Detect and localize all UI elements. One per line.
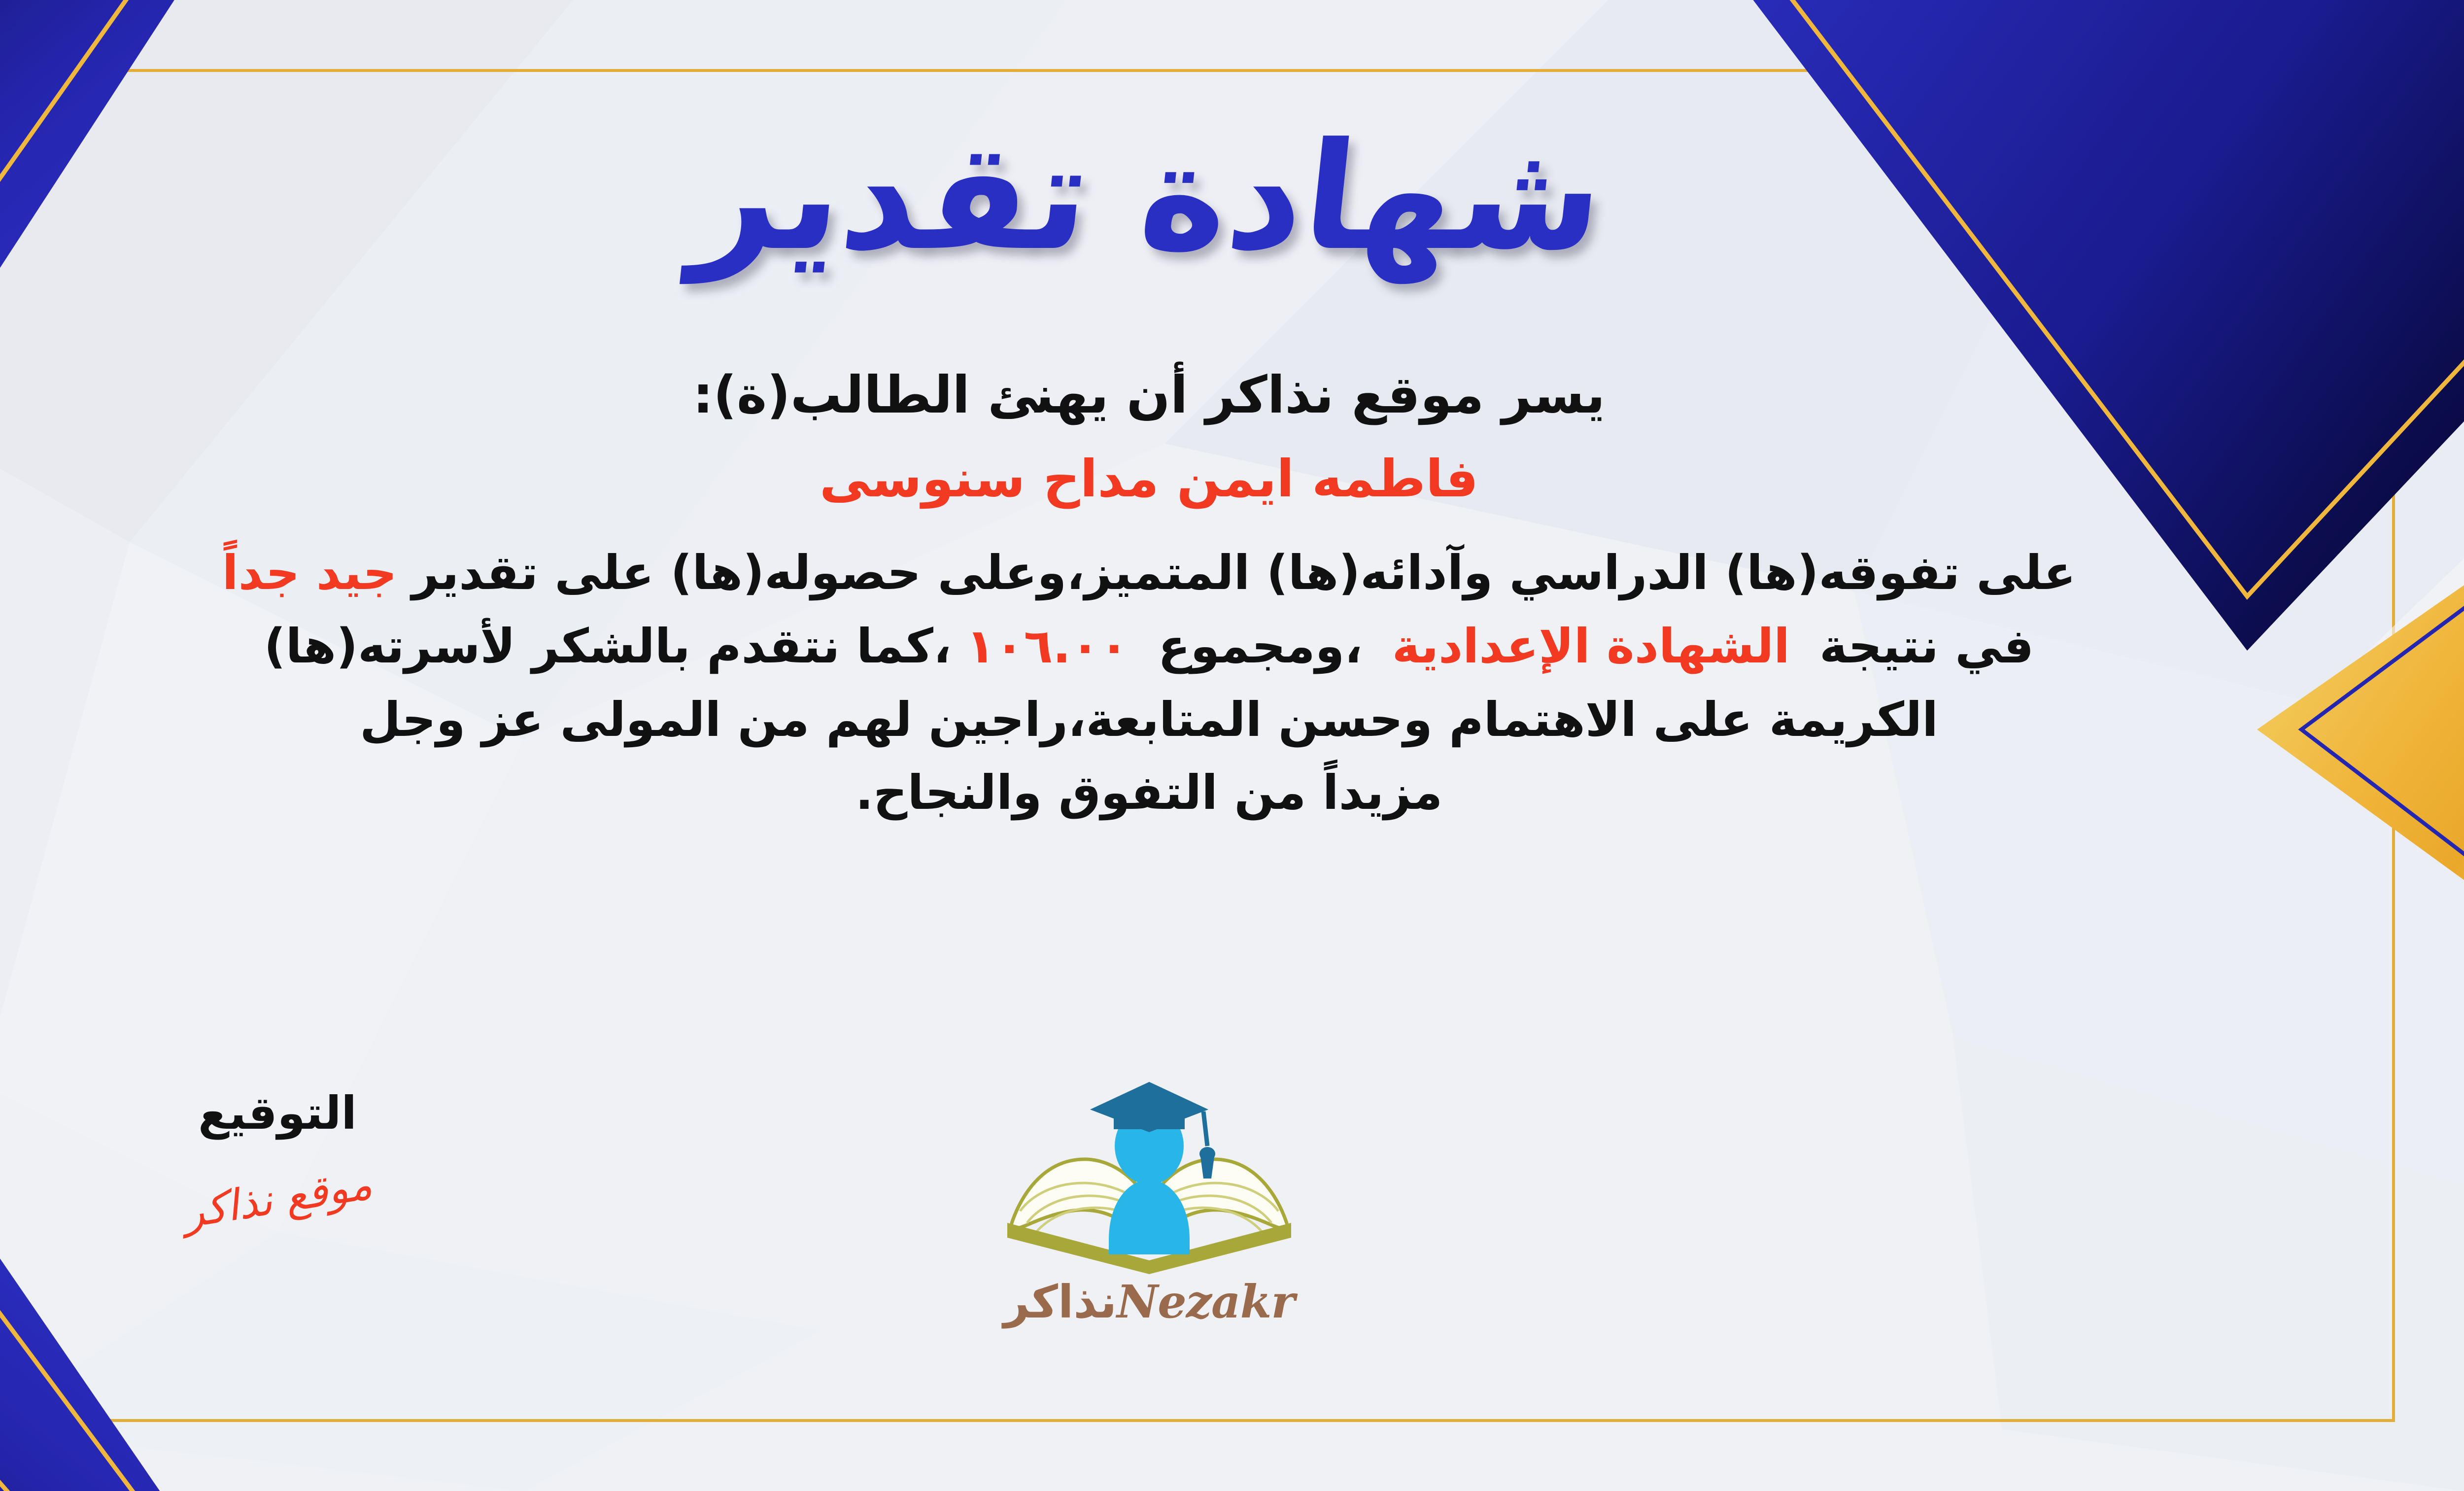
signature-block: التوقيع موقع نذاكر — [125, 1087, 430, 1223]
site-logo: Nezakrنذاكر — [962, 1077, 1336, 1328]
certificate-card: شهادة تقدير يسر موقع نذاكر أن يهنئ الطال… — [0, 0, 2464, 1491]
certificate-title-wrapper: شهادة تقدير — [0, 94, 2385, 301]
grade-value: جيد جداً — [222, 545, 397, 600]
logo-text-en: Nezakr — [1117, 1275, 1295, 1328]
greeting-line: يسر موقع نذاكر أن يهنئ الطالب(ة): — [693, 365, 1605, 425]
graduate-book-logo-icon — [996, 1077, 1302, 1284]
signature-label: التوقيع — [125, 1087, 430, 1140]
logo-text-ar: نذاكر — [1003, 1276, 1117, 1328]
body-line-1: على تفوقه(ها) الدراسي وآدائه(ها) المتميز… — [0, 536, 2332, 610]
student-name: فاطمه ايمن مداح سنوسى — [820, 449, 1478, 509]
logo-wordmark: Nezakrنذاكر — [962, 1275, 1336, 1328]
body-line-2-prefix: في نتيجة — [1819, 619, 2034, 674]
body-line-2-suffix: ،كما نتقدم بالشكر لأسرته(ها) — [264, 619, 952, 674]
certificate-footer: التوقيع موقع نذاكر — [0, 1082, 2385, 1387]
exam-name: الشهادة الإعدادية — [1392, 619, 1790, 674]
body-paragraph: على تفوقه(ها) الدراسي وآدائه(ها) المتميز… — [0, 536, 2332, 830]
body-line-1-text: على تفوقه(ها) الدراسي وآدائه(ها) المتميز… — [412, 545, 2076, 600]
body-line-2-mid: ،ومجموع — [1158, 619, 1363, 674]
body-line-4: مزيداً من التفوق والنجاح. — [0, 756, 2332, 830]
signature-mark: موقع نذاكر — [123, 1150, 432, 1247]
certificate-title: شهادة تقدير — [687, 123, 1611, 271]
total-score: ١٠٦.٠٠ — [966, 619, 1128, 674]
body-line-3: الكريمة على الاهتمام وحسن المتابعة،راجين… — [0, 683, 2332, 757]
body-line-2: في نتيجةالشهادة الإعدادية،ومجموع١٠٦.٠٠،ك… — [0, 610, 2332, 683]
